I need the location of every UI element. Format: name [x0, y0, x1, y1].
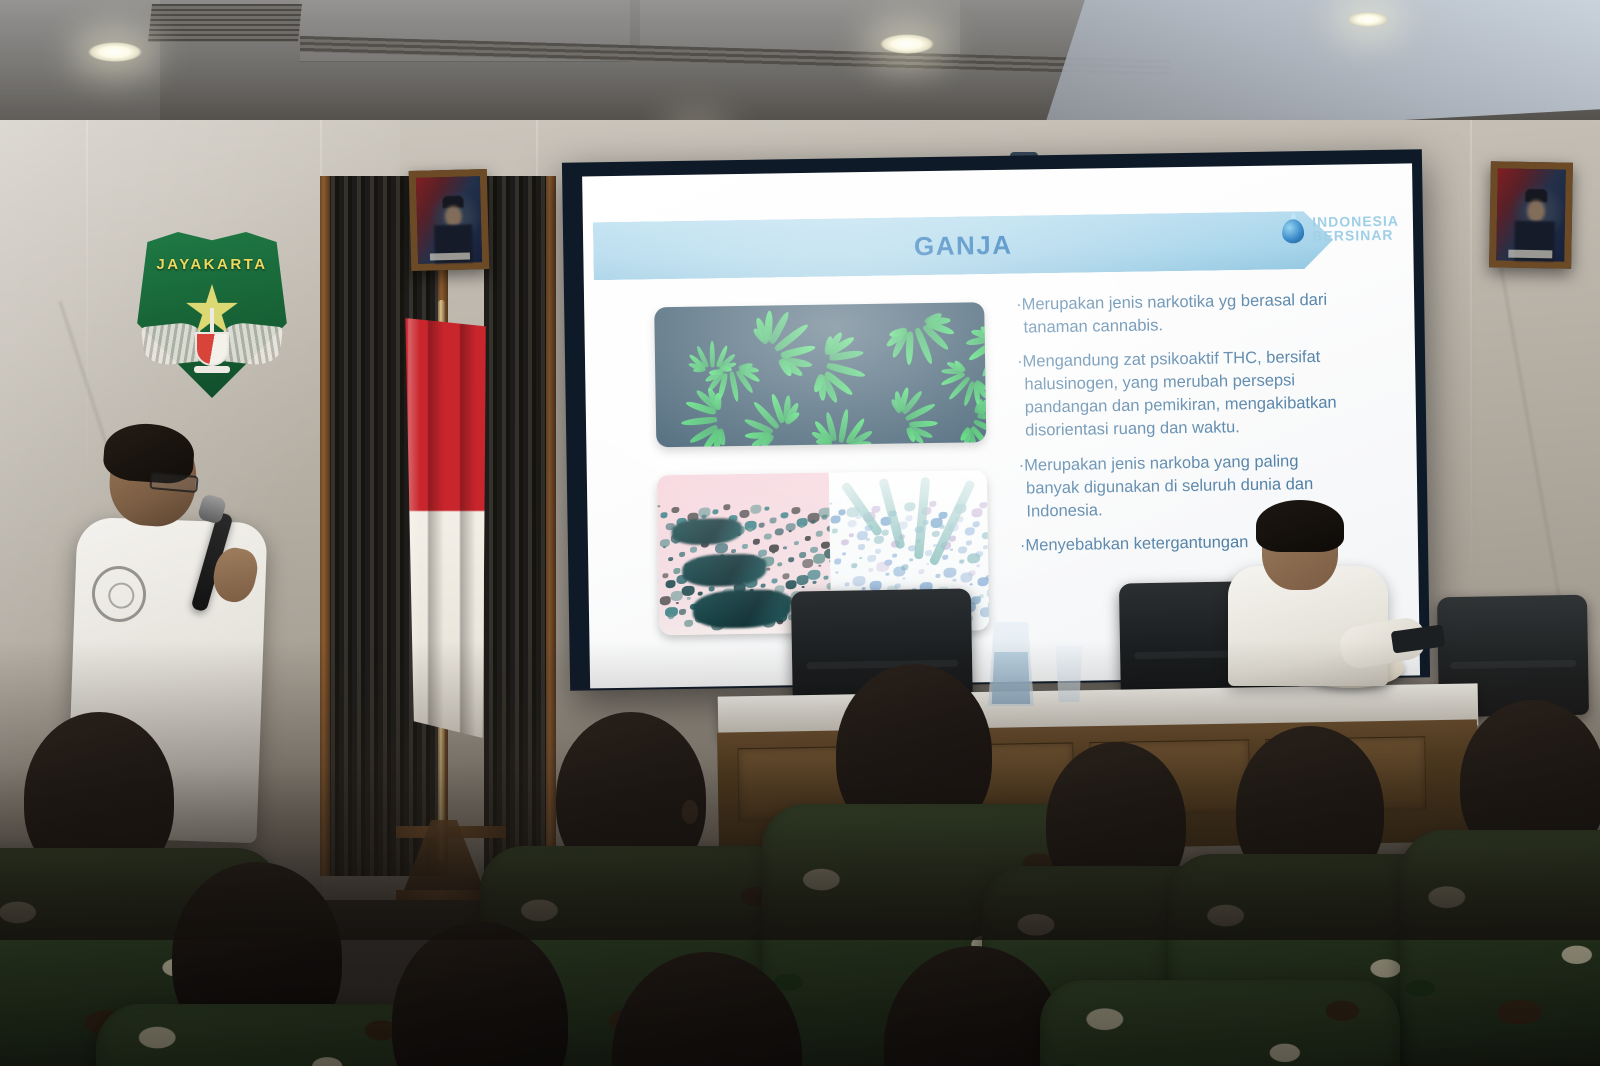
slide-title-banner: GANJA — [593, 211, 1334, 281]
sample-granule — [788, 557, 794, 562]
sample-granule — [662, 573, 668, 578]
sample-granule — [671, 507, 679, 514]
sample-granule — [660, 512, 667, 518]
sample-granule — [881, 530, 888, 536]
sample-granule — [712, 509, 718, 514]
sample-granule — [958, 546, 967, 553]
sample-granule — [918, 569, 924, 574]
wall-emblem-jayakarta: JAYAKARTA — [127, 232, 297, 398]
sample-granule — [967, 553, 980, 564]
ceiling-vent-grille — [148, 4, 302, 42]
sample-granule — [668, 614, 674, 619]
sample-granule — [867, 555, 876, 562]
sample-granule — [799, 552, 806, 558]
sample-granule — [909, 558, 913, 561]
sample-granule — [771, 578, 777, 583]
sample-granule — [690, 547, 697, 553]
brand-line-2: BERSINAR — [1312, 228, 1399, 244]
sample-granule — [794, 541, 799, 545]
ceiling-light-panel — [1040, 0, 1600, 140]
sample-granule — [782, 573, 789, 579]
sample-granule — [959, 560, 964, 564]
sample-granule — [931, 531, 939, 538]
sample-granule — [682, 586, 695, 597]
sample-granule — [943, 568, 956, 579]
sample-granule — [871, 506, 880, 513]
sample-granule — [965, 540, 971, 545]
sample-granule — [858, 544, 865, 550]
sample-granule — [671, 591, 683, 601]
cannabis-leaf-shape — [698, 349, 771, 422]
sample-granule — [847, 520, 856, 527]
sample-granule — [783, 546, 787, 549]
sample-granule — [687, 597, 691, 600]
slide-title: GANJA — [914, 229, 1013, 262]
sample-granule — [852, 576, 865, 587]
sample-granule — [668, 557, 673, 561]
sample-granule — [971, 508, 982, 517]
sample-granule — [770, 517, 777, 523]
sample-granule — [970, 596, 980, 604]
sample-granule — [929, 501, 936, 507]
sample-granule — [865, 538, 869, 541]
sample-mass — [672, 518, 742, 545]
sample-granule — [952, 579, 956, 582]
sample-granule — [831, 529, 837, 534]
sample-granule — [829, 503, 832, 505]
sample-granule — [802, 559, 813, 568]
sample-granule — [764, 507, 769, 511]
cup-icon — [195, 332, 229, 366]
framed-portrait-right — [1489, 161, 1573, 268]
sample-granule — [969, 583, 972, 585]
sample-granule — [905, 515, 912, 521]
sample-granule — [775, 528, 784, 535]
sample-granule — [811, 520, 816, 524]
sample-granule — [818, 565, 821, 567]
sample-granule — [723, 504, 730, 510]
sample-granule — [766, 568, 770, 571]
sample-granule — [660, 596, 671, 605]
sample-granule — [893, 566, 905, 576]
sample-granule — [679, 609, 686, 615]
sample-granule — [789, 530, 792, 532]
sample-granule — [802, 586, 805, 588]
sample-granule — [823, 576, 828, 580]
sample-granule — [868, 568, 873, 572]
sample-granule — [904, 502, 915, 511]
sample-granule — [759, 523, 765, 528]
sample-granule — [875, 549, 881, 554]
sample-granule — [791, 507, 800, 514]
sample-granule — [796, 575, 808, 585]
sample-granule — [780, 512, 788, 519]
sample-granule — [902, 577, 905, 579]
sample-granule — [785, 580, 796, 589]
sample-granule — [764, 534, 772, 541]
sample-granule — [892, 554, 897, 558]
sample-granule — [665, 580, 675, 588]
seated-official-hair — [1256, 500, 1344, 552]
emblem-label: JAYAKARTA — [127, 256, 297, 273]
sample-granule — [709, 586, 715, 591]
sample-granule — [980, 607, 990, 617]
slide-bullet: ·Mengandung zat psikoaktif THC, bersifat… — [1017, 346, 1348, 444]
sample-stalk — [914, 477, 930, 559]
sample-granule — [842, 552, 846, 555]
sample-granule — [964, 527, 974, 535]
sample-granule — [805, 536, 811, 541]
sample-granule — [834, 558, 841, 564]
sample-granule — [731, 549, 736, 553]
sample-granule — [983, 545, 988, 549]
framed-portrait-left — [409, 169, 490, 271]
sample-granule — [848, 533, 853, 537]
sample-granule — [761, 584, 766, 588]
sample-granule — [979, 502, 987, 509]
slide-bullet: ·Merupakan jenis narkotika yg berasal da… — [1016, 288, 1347, 339]
downlight-icon — [88, 42, 142, 62]
sample-granule — [986, 588, 989, 599]
conference-room-scene: JAYAKARTA — [0, 0, 1600, 1066]
sample-granule — [821, 515, 827, 520]
sample-granule — [977, 577, 988, 586]
sample-granule — [835, 572, 838, 574]
sample-granule — [938, 512, 947, 519]
sample-granule — [810, 547, 818, 554]
sample-granule — [976, 564, 980, 567]
sample-granule — [885, 573, 889, 576]
cannabis-leaf-shape — [803, 387, 884, 447]
sample-granule — [873, 536, 883, 544]
sample-granule — [657, 505, 660, 507]
sample-granule — [777, 562, 782, 566]
brand-logo: INDONESIA BERSINAR — [1280, 212, 1399, 246]
sample-granule — [673, 568, 680, 574]
sample-granule — [950, 549, 953, 551]
sample-granule — [859, 557, 862, 559]
sample-granule — [807, 570, 820, 581]
sample-granule — [748, 528, 753, 532]
downlight-icon — [880, 34, 934, 54]
sample-granule — [800, 525, 804, 528]
sample-granule — [813, 554, 825, 564]
sample-granule — [838, 509, 845, 515]
sample-granule — [753, 539, 760, 545]
sample-granule — [942, 555, 948, 560]
sample-granule — [772, 551, 775, 553]
cannabis-plant-photo — [654, 302, 986, 447]
water-drop-icon — [1280, 213, 1306, 245]
sample-granule — [816, 531, 823, 537]
sample-granule — [813, 581, 817, 584]
sample-granule — [960, 572, 972, 582]
sample-granule — [684, 620, 693, 627]
sample-granule — [840, 539, 848, 546]
sample-granule — [750, 505, 761, 514]
sample-granule — [742, 544, 748, 549]
sample-granule — [676, 602, 679, 604]
sample-granule — [739, 510, 749, 518]
sample-granule — [679, 552, 685, 557]
downlight-icon — [1348, 12, 1388, 27]
sample-granule — [926, 563, 929, 565]
sample-granule — [830, 515, 840, 523]
sample-granule — [851, 563, 857, 568]
sample-granule — [698, 592, 703, 596]
sample-granule — [663, 546, 666, 548]
sample-granule — [935, 574, 940, 578]
sample-granule — [981, 532, 989, 539]
sample-granule — [876, 562, 889, 573]
sample-granule — [715, 543, 728, 554]
sample-granule — [844, 582, 849, 586]
sample-granule — [972, 521, 979, 527]
